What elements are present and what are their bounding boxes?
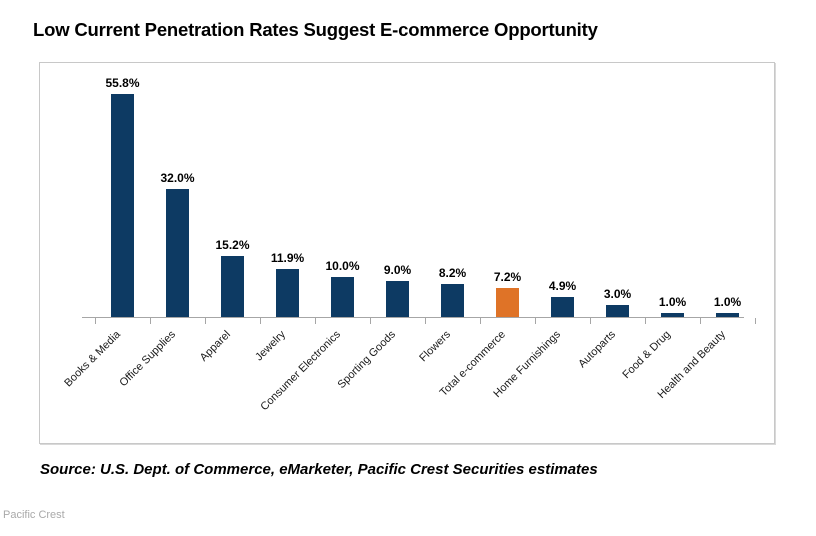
bar-value-health-and-beauty: 1.0% (700, 295, 755, 309)
axis-tick (645, 318, 646, 324)
bar-health-and-beauty (716, 313, 739, 317)
bar-value-office-supplies: 32.0% (150, 171, 205, 185)
axis-tick (425, 318, 426, 324)
page-title: Low Current Penetration Rates Suggest E-… (33, 19, 598, 41)
bar-value-food-and-drug: 1.0% (645, 295, 700, 309)
axis-tick (700, 318, 701, 324)
slide-canvas: Low Current Penetration Rates Suggest E-… (0, 0, 816, 536)
bar-value-consumer-electronics: 10.0% (315, 259, 370, 273)
axis-tick (590, 318, 591, 324)
bar-value-flowers: 8.2% (425, 266, 480, 280)
footer-brand: Pacific Crest (3, 509, 65, 521)
bar-home-furnishings (551, 297, 574, 317)
bar-value-sporting-goods: 9.0% (370, 263, 425, 277)
bar-autoparts (606, 305, 629, 317)
source-note: Source: U.S. Dept. of Commerce, eMarkete… (40, 461, 598, 478)
bar-flowers (441, 284, 464, 317)
axis-tick (205, 318, 206, 324)
axis-tick (755, 318, 756, 324)
bar-apparel (221, 256, 244, 317)
axis-tick (480, 318, 481, 324)
bar-value-apparel: 15.2% (205, 238, 260, 252)
bar-total-e-commerce (496, 288, 519, 317)
axis-tick (150, 318, 151, 324)
bar-sporting-goods (386, 281, 409, 317)
chart-frame: 55.8%32.0%15.2%11.9%10.0%9.0%8.2%7.2%4.9… (39, 62, 775, 444)
axis-tick (315, 318, 316, 324)
bar-food-and-drug (661, 313, 684, 317)
chart-plot-area: 55.8%32.0%15.2%11.9%10.0%9.0%8.2%7.2%4.9… (40, 63, 776, 445)
bar-jewelry (276, 269, 299, 317)
bar-books-and-media (111, 94, 134, 317)
bar-office-supplies (166, 189, 189, 317)
bar-consumer-electronics (331, 277, 354, 317)
bar-value-autoparts: 3.0% (590, 287, 645, 301)
bar-value-total-e-commerce: 7.2% (480, 270, 535, 284)
axis-tick (370, 318, 371, 324)
axis-tick (535, 318, 536, 324)
axis-tick (95, 318, 96, 324)
bar-value-jewelry: 11.9% (260, 251, 315, 265)
axis-tick (260, 318, 261, 324)
bar-value-books-and-media: 55.8% (95, 76, 150, 90)
bar-value-home-furnishings: 4.9% (535, 279, 590, 293)
